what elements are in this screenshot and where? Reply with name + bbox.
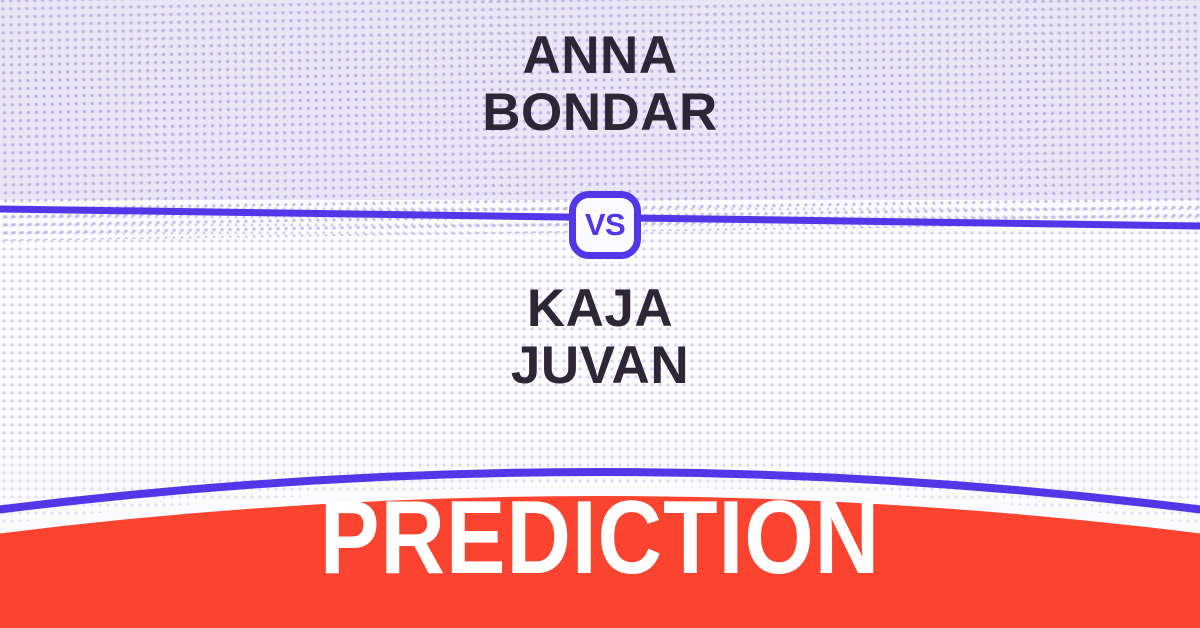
prediction-title: PREDICTION [84, 486, 1116, 590]
vs-badge: VS [569, 191, 641, 259]
player-bottom-last-name: JUVAN [0, 338, 1200, 395]
match-prediction-banner: ANNA BONDAR VS KAJA JUVAN PREDICTION [0, 0, 1200, 628]
player-name-bottom: KAJA JUVAN [0, 281, 1200, 394]
player-name-top: ANNA BONDAR [0, 28, 1200, 141]
player-top-last-name: BONDAR [0, 85, 1200, 142]
player-top-first-name: ANNA [0, 28, 1200, 85]
player-bottom-first-name: KAJA [0, 281, 1200, 338]
vs-badge-label: VS [585, 209, 625, 240]
